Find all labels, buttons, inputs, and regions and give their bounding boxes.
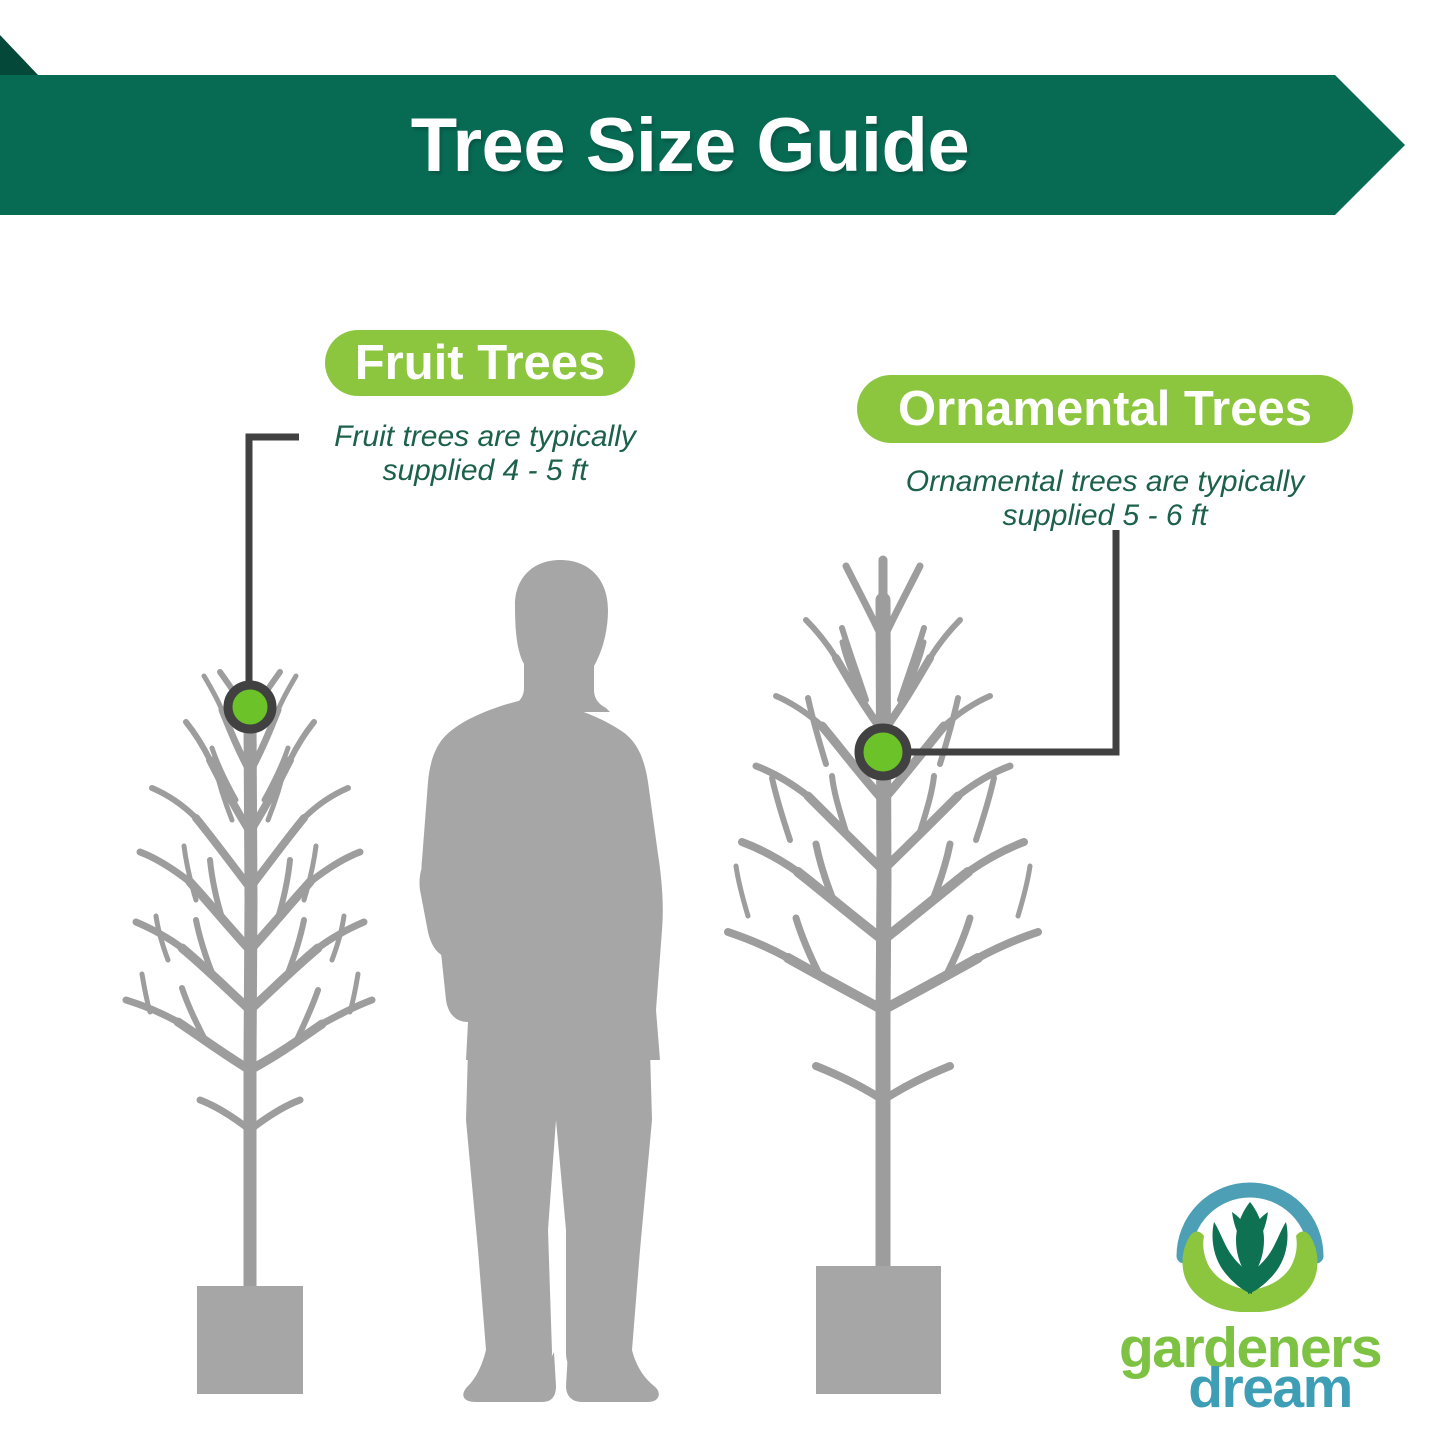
ornamental-tree-illustration xyxy=(728,560,1038,1270)
badge-ornamental-trees[interactable]: Ornamental Trees xyxy=(857,375,1353,443)
logo-wordmark-dream: dream xyxy=(1105,1360,1435,1417)
badge-fruit-trees[interactable]: Fruit Trees xyxy=(325,330,635,396)
ornamental-tree-pot xyxy=(816,1266,941,1394)
caption-fruit-trees: Fruit trees are typically supplied 4 - 5… xyxy=(300,420,670,487)
infographic-canvas: Tree Size Guide xyxy=(0,0,1445,1445)
person-silhouette xyxy=(419,560,662,1402)
caption-ornamental-trees: Ornamental trees are typically supplied … xyxy=(880,465,1330,532)
brand-logo[interactable]: gardeners dream xyxy=(1085,1170,1415,1415)
logo-plant-in-hands-icon xyxy=(1170,1170,1330,1322)
fruit-tree-pot xyxy=(197,1286,303,1394)
fruit-tree-illustration xyxy=(126,672,372,1290)
